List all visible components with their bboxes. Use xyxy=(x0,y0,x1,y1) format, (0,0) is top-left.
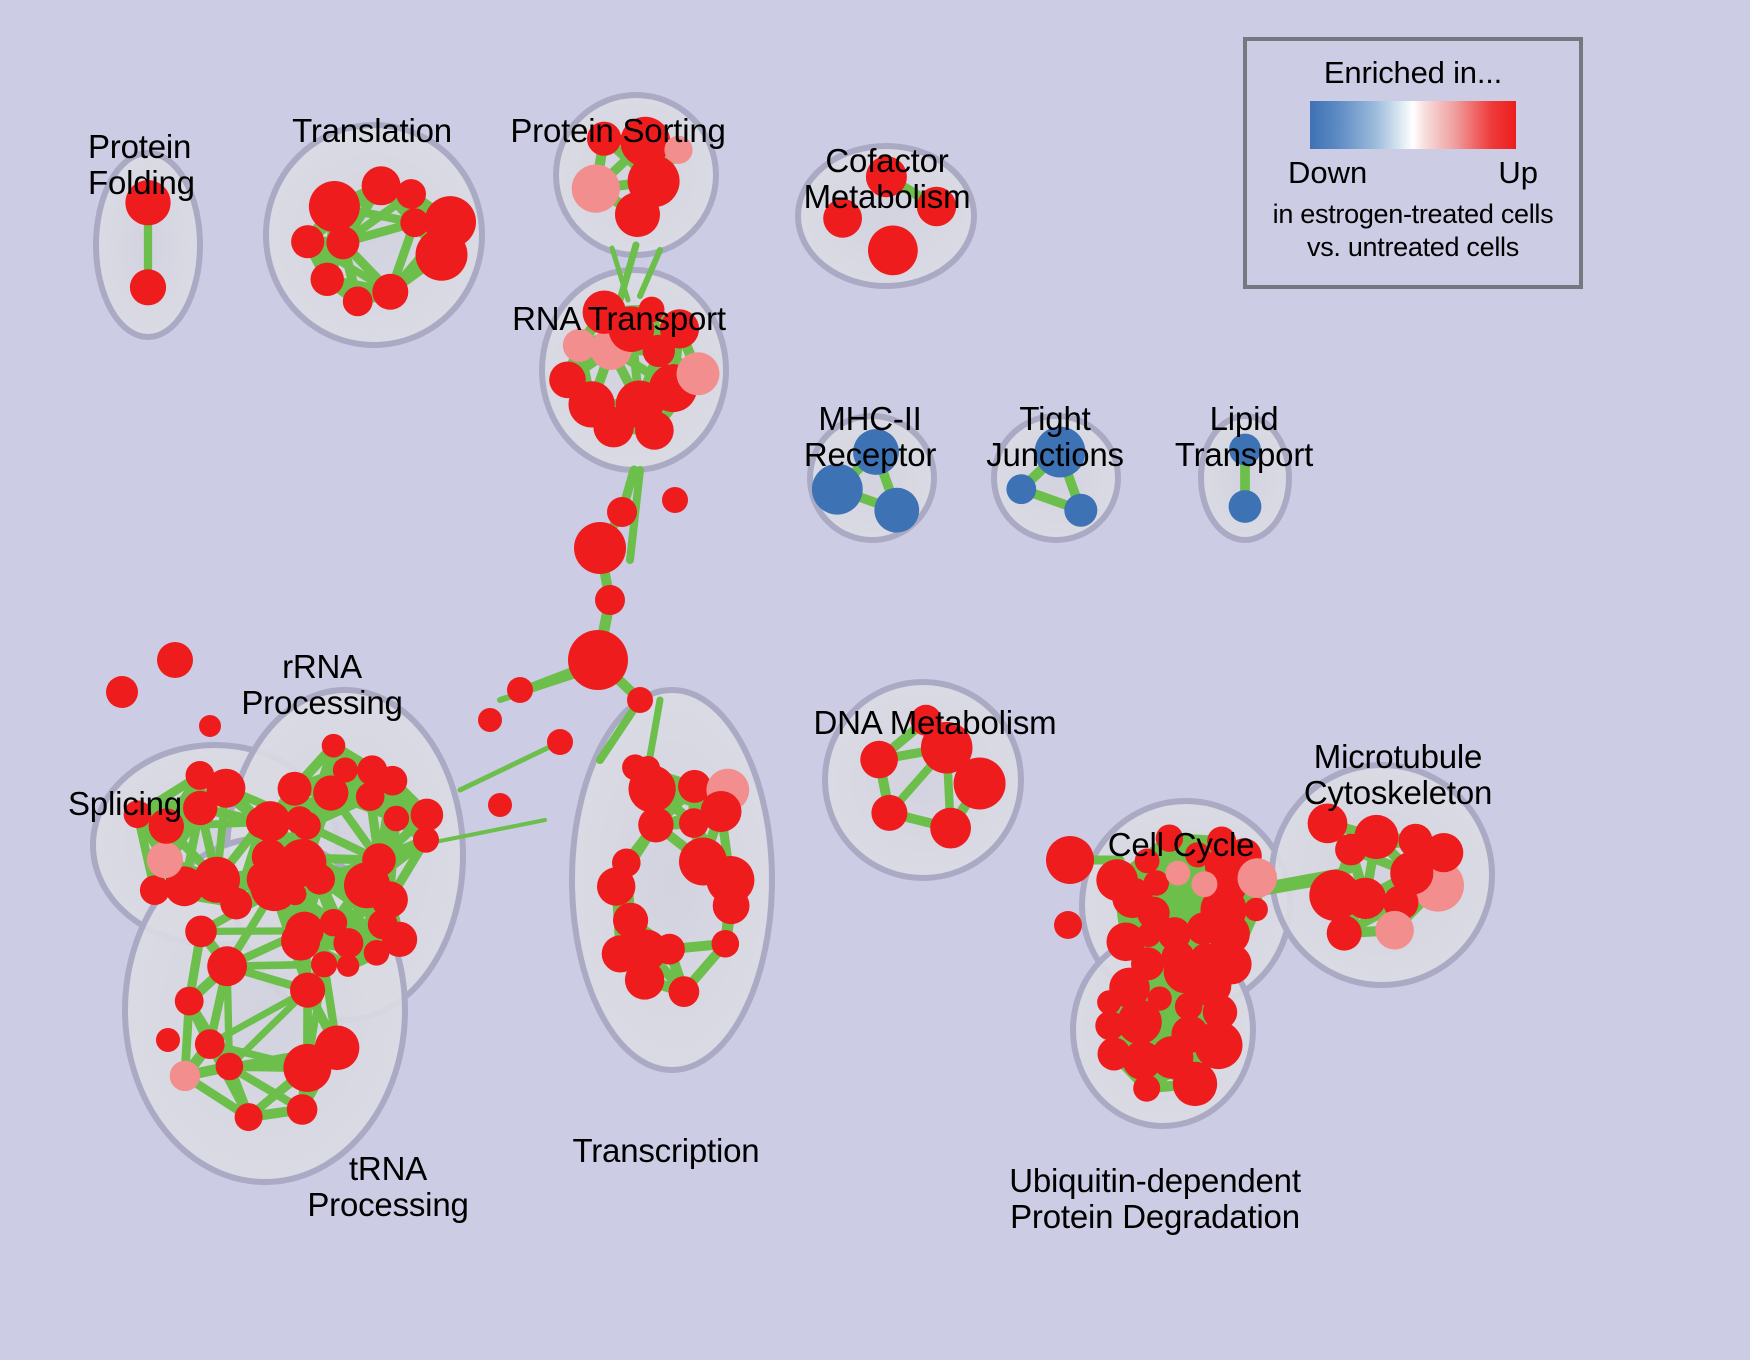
network-node xyxy=(156,1028,180,1052)
network-node xyxy=(574,522,626,574)
network-node xyxy=(568,630,628,690)
cluster-label-protein-sorting: Protein Sorting xyxy=(510,42,725,220)
cluster-label-transcription: Transcription xyxy=(573,1062,760,1240)
cluster-label-text: Translation xyxy=(292,113,452,149)
network-node xyxy=(629,765,676,812)
network-node xyxy=(285,912,324,951)
legend-low-label: Down xyxy=(1288,155,1367,191)
network-node xyxy=(488,793,512,817)
network-node xyxy=(216,1053,244,1081)
network-node xyxy=(382,922,417,957)
cluster-label-cell-cycle: Cell Cycle xyxy=(1108,756,1255,934)
network-node xyxy=(612,849,641,878)
cluster-label-cofactor-metabolism: CofactorMetabolism xyxy=(804,72,971,286)
network-node xyxy=(199,715,221,737)
network-node xyxy=(930,808,971,849)
network-node xyxy=(315,1026,360,1071)
network-node xyxy=(1327,916,1362,951)
network-node xyxy=(290,973,325,1008)
network-node xyxy=(627,687,653,713)
network-node xyxy=(311,951,337,977)
network-node xyxy=(713,887,750,924)
cluster-label-text: Splicing xyxy=(68,786,182,822)
network-node xyxy=(297,847,320,870)
network-node xyxy=(157,642,193,678)
network-node xyxy=(413,827,439,853)
cluster-label-translation: Translation xyxy=(292,42,452,220)
cluster-label-text: MicrotubuleCytoskeleton xyxy=(1304,739,1492,810)
network-node xyxy=(607,497,637,527)
legend-panel: Enriched in... Down Up in estrogen-treat… xyxy=(1243,37,1583,289)
cluster-label-text: LipidTransport xyxy=(1175,401,1313,472)
network-node xyxy=(679,838,727,886)
network-node xyxy=(106,676,138,708)
network-node xyxy=(547,729,573,755)
cluster-label-microtubule-cytoskeleton: MicrotubuleCytoskeleton xyxy=(1304,668,1492,882)
network-node xyxy=(186,761,215,790)
network-node xyxy=(311,263,344,296)
cluster-label-text: CofactorMetabolism xyxy=(804,143,971,214)
network-node xyxy=(384,806,410,832)
network-node xyxy=(712,930,740,958)
cluster-label-mhc-ii-receptor: MHC-IIReceptor xyxy=(804,330,936,544)
cluster-label-text: RNA Transport xyxy=(512,301,726,337)
network-node xyxy=(250,801,291,842)
cluster-label-ubiquitin-protein-degradation: Ubiquitin-dependentProtein Degradation xyxy=(1009,1092,1301,1306)
network-node xyxy=(1189,964,1231,1006)
network-node xyxy=(1054,911,1082,939)
cluster-label-text: ProteinFolding xyxy=(88,129,195,200)
network-node xyxy=(291,225,324,258)
network-node xyxy=(1046,836,1094,884)
legend-color-gradient-bar xyxy=(1310,101,1516,149)
cluster-label-protein-folding: ProteinFolding xyxy=(88,58,195,272)
network-node xyxy=(372,274,408,310)
network-node xyxy=(170,1061,200,1091)
network-node xyxy=(293,812,321,840)
network-node xyxy=(195,1029,225,1059)
network-node xyxy=(613,903,648,938)
legend-high-label: Up xyxy=(1498,155,1538,191)
network-node xyxy=(478,708,502,732)
network-node xyxy=(669,976,700,1007)
network-node xyxy=(343,287,373,317)
network-node xyxy=(1171,1016,1208,1053)
cluster-label-dna-metabolism: DNA Metabolism xyxy=(814,634,1057,812)
legend-title: Enriched in... xyxy=(1324,55,1502,91)
network-edge-intercluster xyxy=(460,742,560,790)
network-node xyxy=(662,487,688,513)
network-node xyxy=(1098,1038,1131,1071)
network-node xyxy=(1375,911,1414,950)
network-node xyxy=(362,843,396,877)
cluster-label-text: MHC-IIReceptor xyxy=(804,401,936,472)
network-node xyxy=(1148,987,1172,1011)
network-node xyxy=(638,807,673,842)
cluster-label-text: Protein Sorting xyxy=(510,113,725,149)
cluster-label-text: DNA Metabolism xyxy=(814,705,1057,741)
enrichment-map-figure: ProteinFolding Translation Protein Sorti… xyxy=(0,0,1750,1360)
cluster-label-text: tRNAProcessing xyxy=(307,1151,468,1222)
cluster-label-rna-transport: RNA Transport xyxy=(512,230,726,408)
cluster-label-text: Ubiquitin-dependentProtein Degradation xyxy=(1009,1163,1301,1234)
network-node xyxy=(1097,990,1121,1014)
network-node xyxy=(207,946,247,986)
network-node xyxy=(411,799,444,832)
cluster-label-text: rRNAProcessing xyxy=(241,649,402,720)
network-node xyxy=(130,269,166,305)
network-node xyxy=(333,928,363,958)
network-node xyxy=(701,791,742,832)
cluster-label-splicing: Splicing xyxy=(68,715,182,893)
network-node xyxy=(507,677,533,703)
cluster-label-tight-junctions: TightJunctions xyxy=(986,330,1124,544)
network-node xyxy=(259,877,288,906)
network-node xyxy=(185,916,217,948)
cluster-label-lipid-transport: LipidTransport xyxy=(1175,330,1313,544)
cluster-label-trna-processing: tRNAProcessing xyxy=(307,1080,468,1294)
network-node xyxy=(371,881,408,918)
cluster-label-text: Transcription xyxy=(573,1133,760,1169)
legend-caption-line-1: in estrogen-treated cells xyxy=(1273,199,1554,230)
legend-scale-endpoints: Down Up xyxy=(1288,155,1538,191)
cluster-label-text: TightJunctions xyxy=(986,401,1124,472)
network-node xyxy=(595,585,625,615)
cluster-label-text: Cell Cycle xyxy=(1108,827,1255,863)
network-node xyxy=(175,987,204,1016)
cluster-label-rrna-processing: rRNAProcessing xyxy=(241,578,402,792)
network-node xyxy=(235,1103,263,1131)
legend-caption-line-2: vs. untreated cells xyxy=(1307,232,1519,263)
